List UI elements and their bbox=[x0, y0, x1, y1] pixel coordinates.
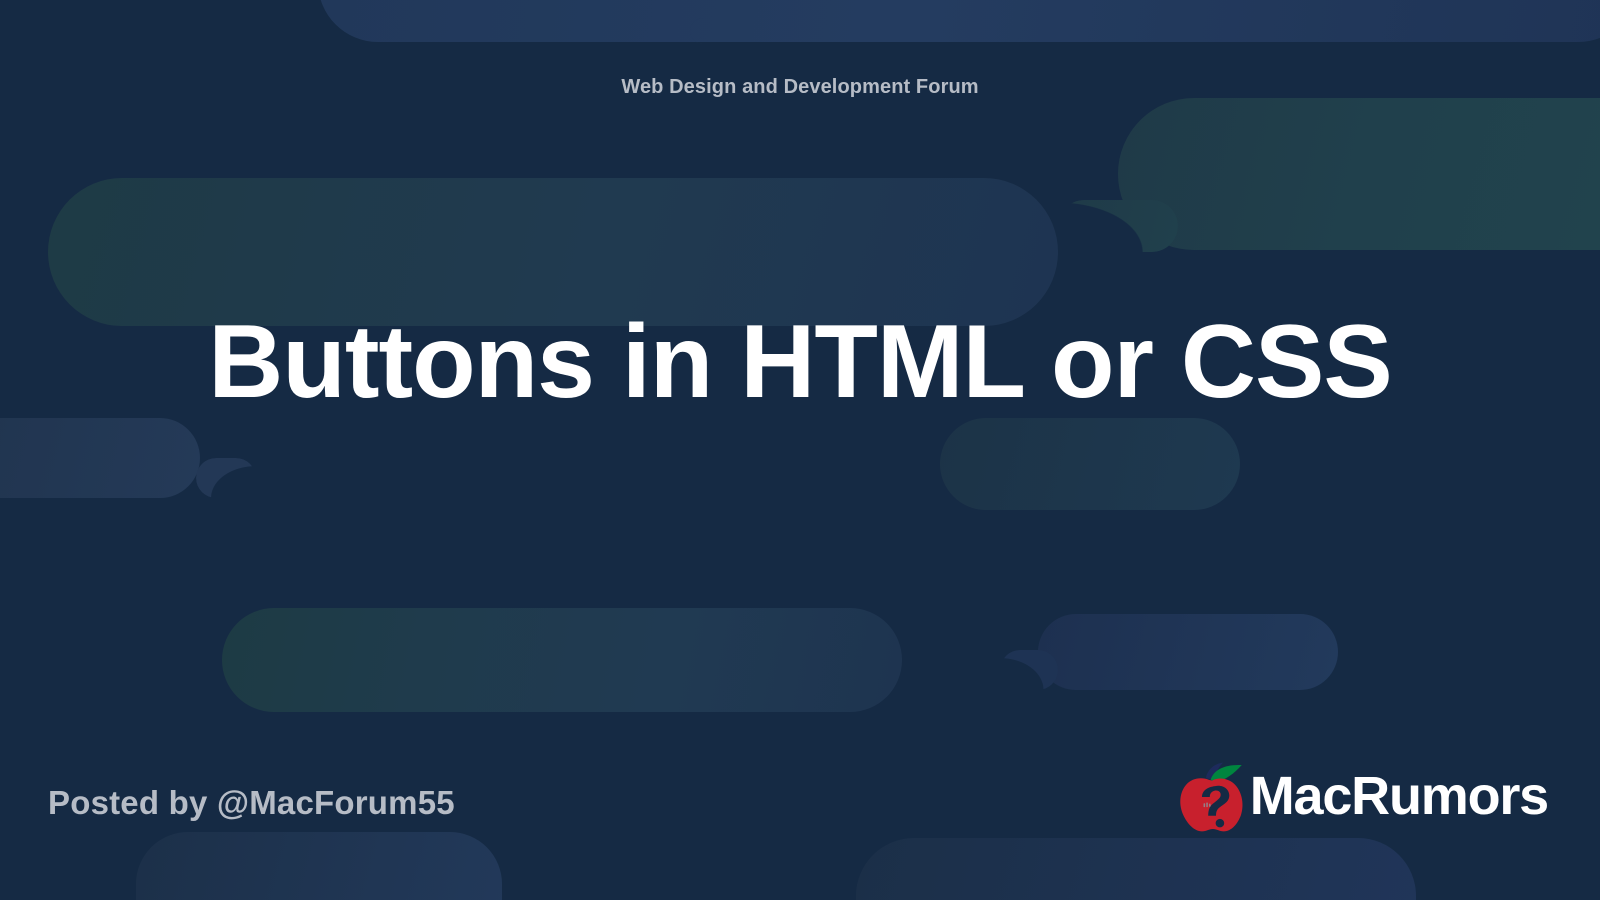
social-share-card: Web Design and Development Forum Buttons… bbox=[0, 0, 1600, 900]
forum-label: Web Design and Development Forum bbox=[0, 76, 1600, 99]
posted-by-label: Posted by @MacForum55 bbox=[48, 784, 455, 822]
macrumors-wordmark: MacRumors bbox=[1250, 769, 1548, 823]
macrumors-apple-icon bbox=[1170, 758, 1248, 836]
brand-lockup: MacRumors bbox=[1170, 758, 1548, 836]
card-content: Web Design and Development Forum Buttons… bbox=[0, 0, 1600, 900]
page-title: Buttons in HTML or CSS bbox=[190, 300, 1410, 424]
